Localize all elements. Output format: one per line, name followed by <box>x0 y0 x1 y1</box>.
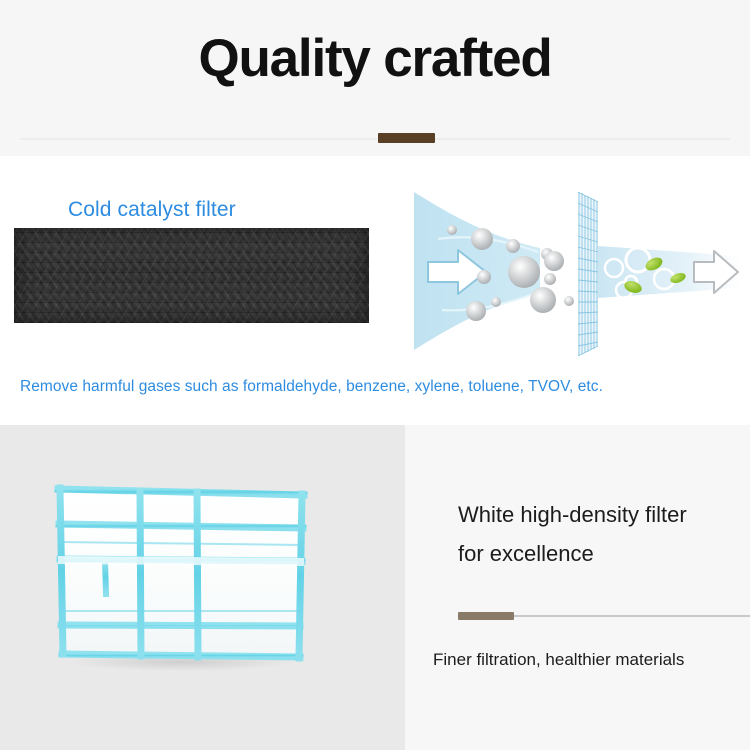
page-header: Quality crafted <box>0 0 750 156</box>
filter-mesh <box>578 192 598 356</box>
cold-catalyst-section: Cold catalyst filter Remove harmful gase… <box>0 156 750 425</box>
white-filter-photo <box>48 480 314 673</box>
header-accent-bar <box>378 133 435 143</box>
cold-catalyst-title: Cold catalyst filter <box>68 198 236 222</box>
honeycomb-filter-image <box>14 228 369 323</box>
white-filter-image-panel <box>0 425 405 750</box>
product-detail-page: Quality crafted Cold catalyst filter Rem… <box>0 0 750 750</box>
white-filter-subtitle: Finer filtration, healthier materials <box>433 650 684 670</box>
white-filter-heading-line-2: for excellence <box>458 534 738 573</box>
page-title: Quality crafted <box>0 28 750 89</box>
white-filter-heading-line-1: White high-density filter <box>458 495 738 534</box>
filtration-diagram <box>402 184 742 359</box>
accent-bar <box>458 612 514 620</box>
accent-line <box>514 615 750 617</box>
header-divider <box>20 138 730 140</box>
white-filter-heading: White high-density filter for excellence <box>458 495 738 573</box>
cold-catalyst-caption: Remove harmful gases such as formaldehyd… <box>20 378 603 396</box>
white-filter-accent <box>458 612 750 620</box>
white-filter-text-panel: White high-density filter for excellence… <box>405 425 750 750</box>
